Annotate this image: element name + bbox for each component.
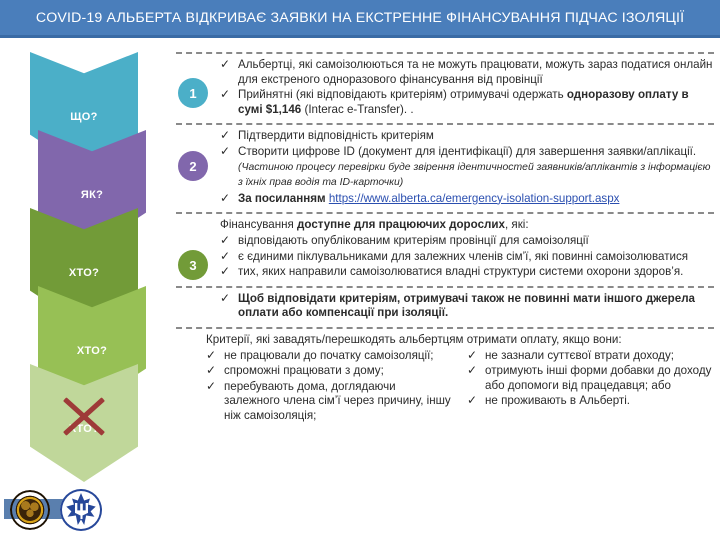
list-item: ✓ Підтвердити відповідність критеріям — [220, 129, 714, 144]
list-item-text-part1: Створити цифрове ID (документ для іденти… — [238, 145, 696, 158]
list-item: ✓ Створити цифрове ID (документ для іден… — [220, 145, 714, 191]
list-item: ✓ є єдиними піклувальниками для залежних… — [220, 250, 714, 265]
list-item-text: не проживають в Альберті. — [485, 394, 630, 407]
organization-logos — [4, 487, 114, 535]
content-block-3: 3 Фінансування доступне для працюючих до… — [176, 214, 714, 285]
chevron-step-3-label: ХТО? — [69, 267, 99, 279]
block-5-lead: Критерії, які завадять/перешкодять альбе… — [206, 333, 714, 348]
content-block-2: 2 ✓ Підтвердити відповідність критеріям … — [176, 125, 714, 212]
list-item-text: Підтвердити відповідність критеріям — [238, 129, 434, 142]
chevron-step-1-label: ЩО? — [70, 111, 97, 123]
list-item-text: отримують інші форми добавки до доходу а… — [485, 364, 711, 392]
chevron-step-4-label: ХТО? — [77, 345, 107, 357]
sunflower-emblem-icon — [10, 490, 50, 530]
list-item: ✓ спроможні працювати з дому; — [206, 364, 453, 379]
list-item: ✓ Альбертці, які самоізолюються та не мо… — [220, 58, 714, 87]
list-item: ✓ Прийнятні (які відповідають критеріям)… — [220, 88, 714, 117]
check-icon: ✓ — [220, 291, 230, 306]
check-icon: ✓ — [467, 363, 477, 378]
check-icon: ✓ — [220, 264, 230, 279]
check-icon: ✓ — [220, 128, 230, 143]
page-title: COVID-19 АЛЬБЕРТА ВІДКРИВАЄ ЗАЯВКИ НА ЕК… — [36, 10, 684, 26]
step-number-badge-1: 1 — [178, 78, 208, 108]
list-item: ✓ Щоб відповідати критеріям, отримувачі … — [220, 292, 714, 321]
list-item-text: не зазнали суттєвої втрати доходу; — [485, 349, 674, 362]
block-5-left-column: ✓ не працювали до початку самоізоляції; … — [206, 349, 453, 425]
check-icon: ✓ — [220, 57, 230, 72]
check-icon: ✓ — [206, 379, 216, 394]
check-icon: ✓ — [206, 348, 216, 363]
block-3-lead: Фінансування доступне для працюючих доро… — [220, 218, 714, 233]
list-item-text: Альбертці, які самоізолюються та не можу… — [238, 58, 712, 86]
content-block-5: Критерії, які завадять/перешкодять альбе… — [176, 329, 714, 430]
list-item-text: не працювали до початку самоізоляції; — [224, 349, 434, 362]
list-item-text-part1: Прийнятні (які відповідають критеріям) о… — [238, 88, 567, 101]
check-icon: ✓ — [220, 87, 230, 102]
list-item-text-bold: За посиланням — [238, 192, 329, 205]
list-item-text: відповідають опублікованим критеріям про… — [238, 234, 589, 247]
chevron-flow-sidebar: ЩО? ЯК? ХТО? ХТО? ХТО? — [26, 52, 166, 532]
block-3-lead-part1: Фінансування — [220, 218, 297, 231]
step-number-badge-2: 2 — [178, 151, 208, 181]
list-item-text-bold: Щоб відповідати критеріям, отримувачі та… — [238, 292, 695, 320]
block-3-lead-part2: , які: — [505, 218, 529, 231]
list-item: ✓ тих, яких направили самоізолюватися вл… — [220, 265, 714, 280]
list-item: ✓ не зазнали суттєвої втрати доходу; — [467, 349, 714, 364]
chevron-step-2-label: ЯК? — [81, 189, 103, 201]
chevron-step-5-label: ХТО? — [69, 423, 99, 435]
list-item-text: спроможні працювати з дому; — [224, 364, 384, 377]
block-3-lead-bold: доступне для працюючих дорослих — [297, 218, 505, 231]
list-item: ✓ За посиланням https://www.alberta.ca/e… — [220, 192, 714, 207]
list-item-text: тих, яких направили самоізолюватися влад… — [238, 265, 683, 278]
content-column: 1 ✓ Альбертці, які самоізолюються та не … — [176, 52, 714, 538]
content-block-1: 1 ✓ Альбертці, які самоізолюються та не … — [176, 54, 714, 123]
alberta-support-link[interactable]: https://www.alberta.ca/emergency-isolati… — [329, 192, 620, 205]
list-item-text: перебувають дома, доглядаючи залежного ч… — [224, 380, 451, 422]
trident-maple-leaf-emblem-icon — [60, 489, 102, 531]
check-icon: ✓ — [220, 144, 230, 159]
list-item: ✓ відповідають опублікованим критеріям п… — [220, 234, 714, 249]
check-icon: ✓ — [467, 348, 477, 363]
content-block-4: ✓ Щоб відповідати критеріям, отримувачі … — [176, 288, 714, 327]
list-item: ✓ перебувають дома, доглядаючи залежного… — [206, 380, 453, 424]
list-item-text: є єдиними піклувальниками для залежних ч… — [238, 250, 688, 263]
list-item-text-italic-note: (Частиною процесу перевірки буде звіренн… — [238, 162, 710, 189]
page-header: COVID-19 АЛЬБЕРТА ВІДКРИВАЄ ЗАЯВКИ НА ЕК… — [0, 0, 720, 38]
check-icon: ✓ — [220, 249, 230, 264]
list-item: ✓ не проживають в Альберті. — [467, 394, 714, 409]
check-icon: ✓ — [220, 191, 230, 206]
list-item-text-part2: (Interac e-Transfer). . — [301, 103, 413, 116]
check-icon: ✓ — [220, 233, 230, 248]
step-number-badge-3: 3 — [178, 250, 208, 280]
block-5-right-column: ✓ не зазнали суттєвої втрати доходу; ✓ о… — [467, 349, 714, 425]
list-item: ✓ отримують інші форми добавки до доходу… — [467, 364, 714, 393]
check-icon: ✓ — [206, 363, 216, 378]
list-item: ✓ не працювали до початку самоізоляції; — [206, 349, 453, 364]
check-icon: ✓ — [467, 393, 477, 408]
